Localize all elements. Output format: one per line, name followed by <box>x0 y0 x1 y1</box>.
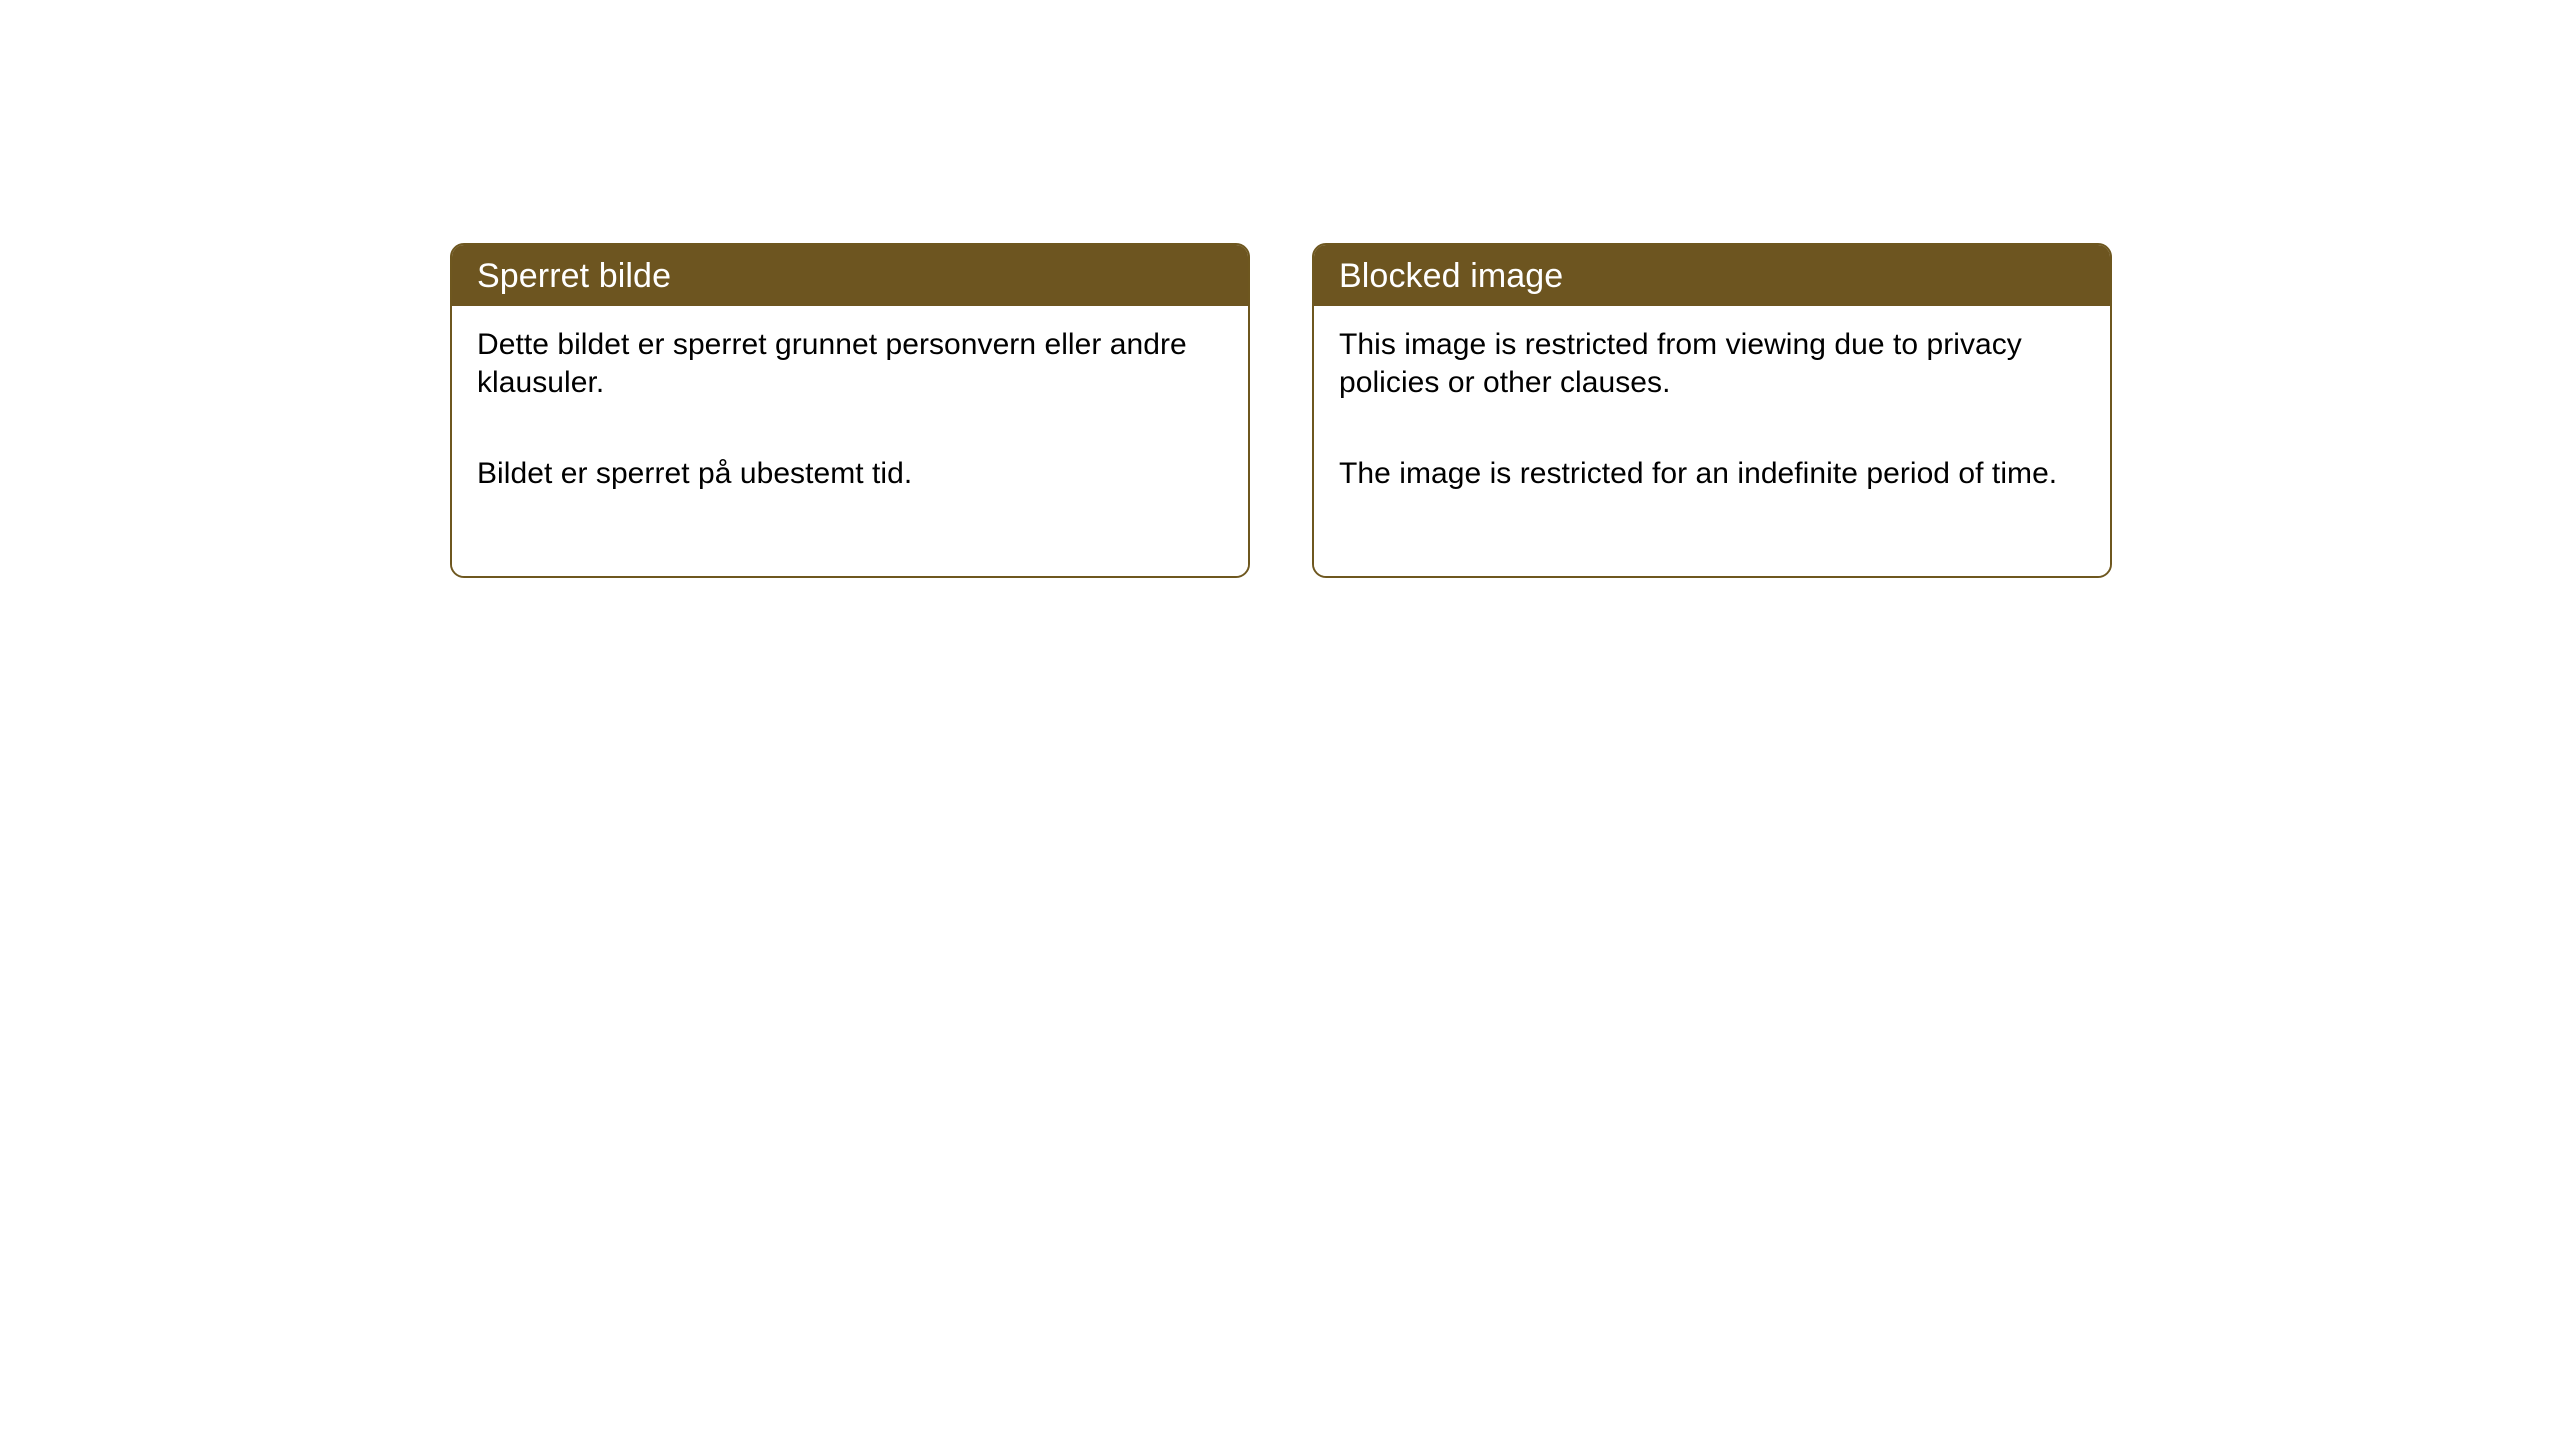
notice-title-en: Blocked image <box>1314 245 2110 306</box>
notice-body-en: This image is restricted from viewing du… <box>1314 306 2110 576</box>
blocked-image-notice-group: Sperret bilde Dette bildet er sperret gr… <box>450 243 2112 578</box>
notice-paragraph-primary-en: This image is restricted from viewing du… <box>1339 326 2088 403</box>
notice-body-no: Dette bildet er sperret grunnet personve… <box>452 306 1248 576</box>
blocked-image-notice-card-en: Blocked image This image is restricted f… <box>1312 243 2112 578</box>
notice-paragraph-secondary-en: The image is restricted for an indefinit… <box>1339 455 2088 493</box>
blocked-image-notice-card-no: Sperret bilde Dette bildet er sperret gr… <box>450 243 1250 578</box>
notice-title-no: Sperret bilde <box>452 245 1248 306</box>
notice-paragraph-secondary-no: Bildet er sperret på ubestemt tid. <box>477 455 1226 493</box>
notice-paragraph-primary-no: Dette bildet er sperret grunnet personve… <box>477 326 1226 403</box>
page-canvas: Sperret bilde Dette bildet er sperret gr… <box>0 0 2560 1440</box>
